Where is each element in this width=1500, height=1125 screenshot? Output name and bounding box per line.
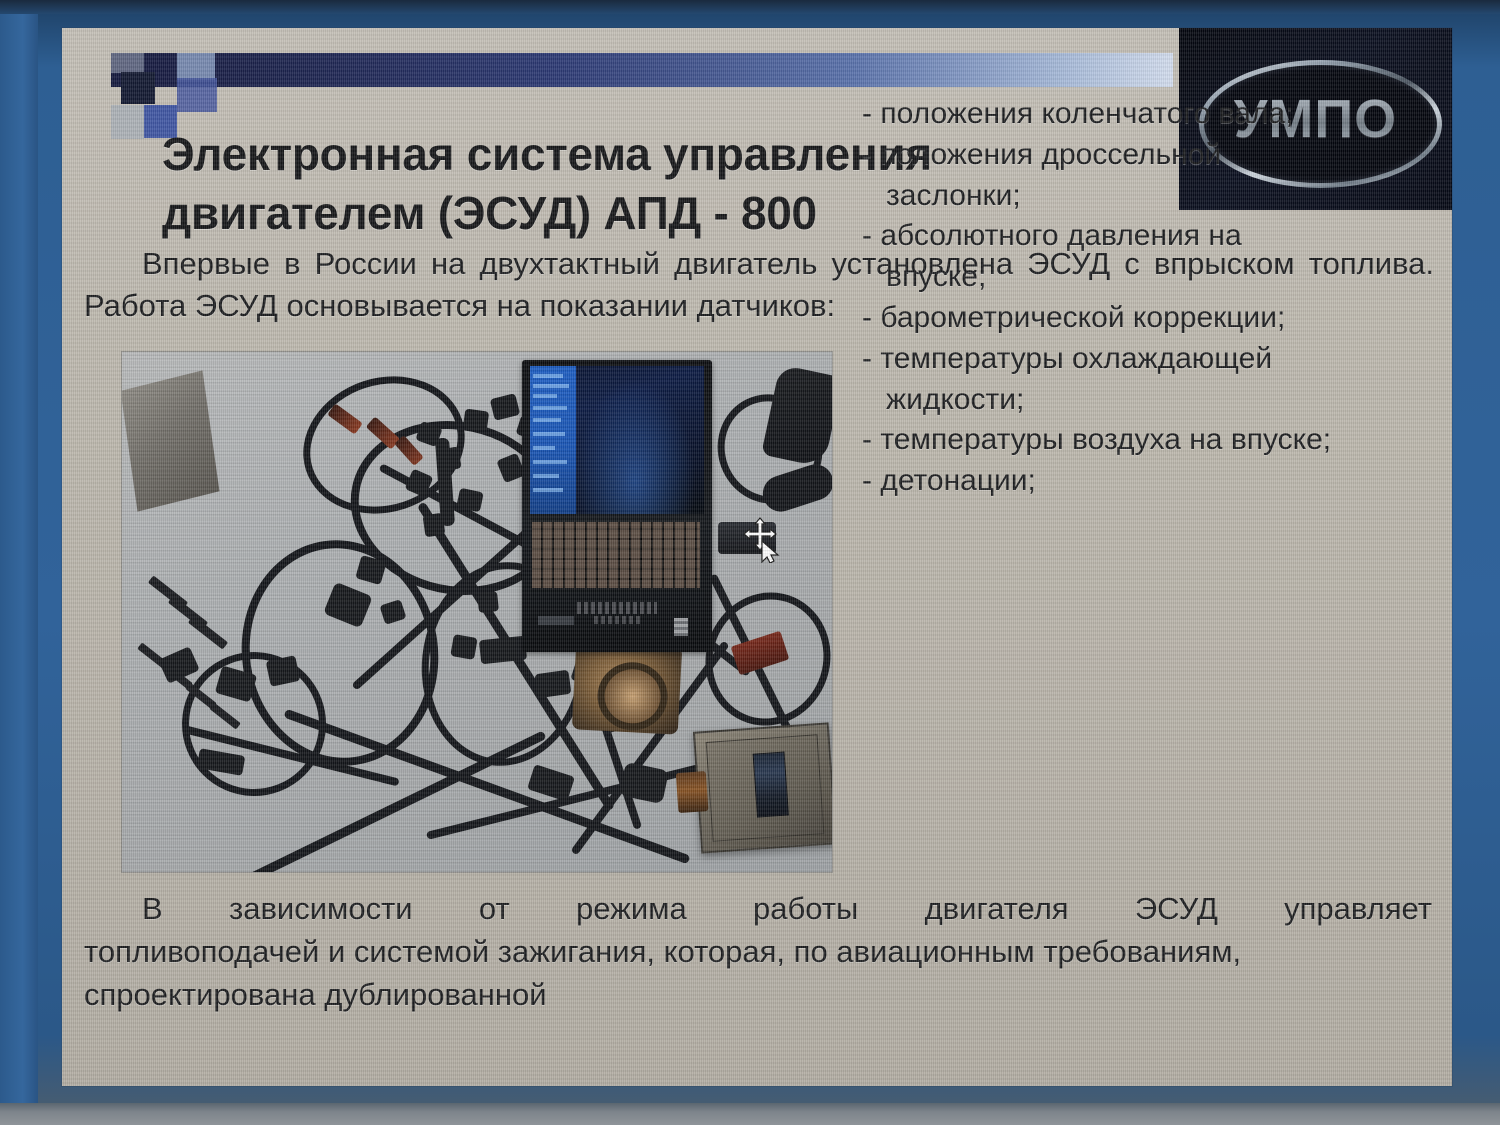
photo-ecu-cap <box>676 771 709 813</box>
outro-text-1: ВзависимостиотрежимаработыдвигателяЭСУДу… <box>142 888 1432 931</box>
outro-word: двигателя <box>925 888 1069 931</box>
list-item: - детонации; <box>862 461 1442 502</box>
photo-connector-4 <box>490 393 521 421</box>
photo-screen-row <box>533 488 563 492</box>
outro-word: зависимости <box>229 888 413 931</box>
photo-laptop-label <box>577 602 657 614</box>
photo-ecu-connector <box>753 752 789 818</box>
photo-screen-row <box>533 374 563 378</box>
photo-screen-row <box>533 460 567 464</box>
list-item: - температуры охлаждающей <box>862 339 1442 380</box>
photo-connector-22 <box>479 636 527 665</box>
outro-word: управляет <box>1284 888 1432 931</box>
photo-screen-row <box>533 446 555 450</box>
photo-connector-3 <box>463 408 490 431</box>
screen-left-edge <box>0 14 38 1103</box>
photo-connector-12 <box>450 634 477 660</box>
photo-probe-3 <box>188 615 228 649</box>
list-item: - барометрической коррекции; <box>862 298 1442 339</box>
photo-connector-13 <box>477 591 499 613</box>
list-item: - положения коленчатого вала; <box>862 94 1442 135</box>
photo-intake-hose <box>761 364 832 467</box>
projected-slide-screen: УМПО Электронная система управления двиг… <box>0 0 1500 1125</box>
photo-screen-row <box>533 384 569 388</box>
screen-top-edge <box>0 0 1500 14</box>
outro-paragraph: ВзависимостиотрежимаработыдвигателяЭСУДу… <box>84 888 1434 1016</box>
outro-word: работы <box>753 888 858 931</box>
decorative-square-navy <box>121 72 155 104</box>
presentation-slide: УМПО Электронная система управления двиг… <box>62 28 1452 1086</box>
list-item: заслонки; <box>862 176 1442 217</box>
outro-line-2: топливоподачей и системой зажигания, кот… <box>84 931 1434 974</box>
outro-word: от <box>479 888 510 931</box>
photo-laptop-badge <box>538 616 574 625</box>
photo-sensor-plate <box>122 370 219 511</box>
photo-laptop <box>522 360 712 652</box>
outro-line-1: ВзависимостиотрежимаработыдвигателяЭСУДу… <box>84 888 1434 931</box>
list-item: - положения дроссельной <box>862 135 1442 176</box>
decorative-square-pale-top <box>111 53 144 73</box>
decorative-square-pale-left <box>111 105 144 139</box>
photo-screen-row <box>533 432 565 436</box>
list-item: - абсолютного давления на <box>862 216 1442 257</box>
photo-ecu-module <box>693 722 832 853</box>
photo-ignition-coil <box>572 641 682 734</box>
outro-word: ЭСУД <box>1135 888 1218 931</box>
photo-connector-18 <box>158 646 200 684</box>
move-cursor-icon <box>744 517 784 563</box>
list-item: - температуры воздуха на впуске; <box>862 420 1442 461</box>
outro-word: В <box>142 888 163 931</box>
photo-laptop-speaker <box>674 618 688 636</box>
photo-screen-row <box>533 394 557 398</box>
photo-laptop-keyboard <box>532 522 700 588</box>
photo-laptop-screen <box>530 366 704 514</box>
list-item: впуске; <box>862 257 1442 298</box>
screen-bottom-edge <box>0 1103 1500 1125</box>
outro-line-3: спроектирована дублированной <box>84 974 1434 1017</box>
photo-screen-row <box>533 474 559 478</box>
outro-word: режима <box>576 888 687 931</box>
photo-screen-row <box>533 418 561 422</box>
decorative-square-lightblue <box>177 53 215 80</box>
photo-screen-row <box>533 406 567 410</box>
header-accent-bar <box>111 53 1173 87</box>
equipment-photo: Фотография жгута проводов ЭСУД с ноутбук… <box>122 352 832 872</box>
photo-laptop-sublabel <box>594 616 640 624</box>
photo-connector-16 <box>534 670 571 698</box>
sensor-list: - положения коленчатого вала; - положени… <box>862 94 1442 502</box>
photo-laptop-screen-menu <box>530 366 576 514</box>
decorative-square-midblue <box>177 78 217 112</box>
photo-screen-glow <box>576 366 704 514</box>
photo-coil-ring <box>596 661 669 733</box>
photo-connector-23 <box>527 764 575 802</box>
list-item: жидкости; <box>862 380 1442 421</box>
